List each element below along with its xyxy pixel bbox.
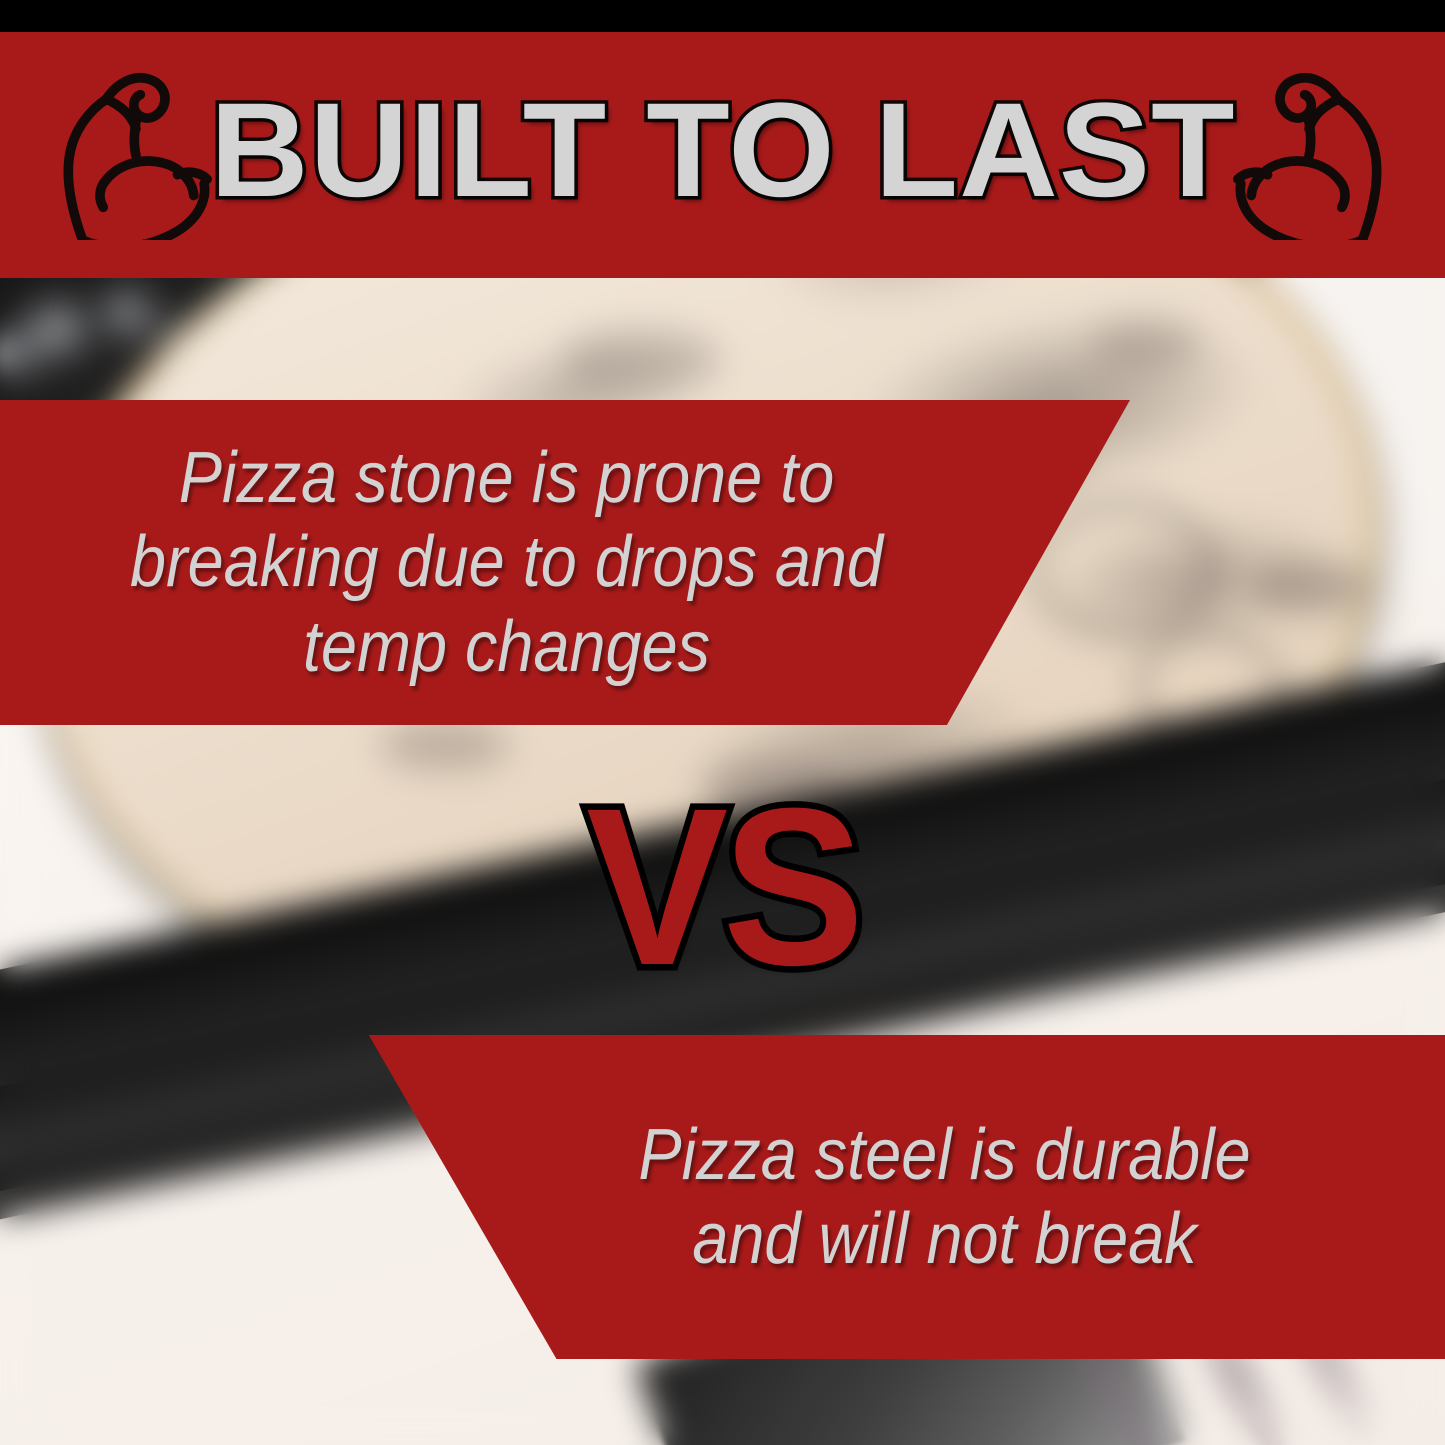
product-comparison-poster: BUILT TO LAST Pizza stone is prone to br… <box>0 0 1445 1445</box>
callout-pizza-stone-text: Pizza stone is prone to breaking due to … <box>57 436 1074 689</box>
flexed-bicep-icon <box>49 65 214 245</box>
top-letterbox-bar <box>0 0 1445 32</box>
callout-line: Pizza stone is prone to <box>179 438 835 518</box>
flexed-bicep-icon <box>1231 65 1396 245</box>
callout-line: breaking due to drops and <box>130 522 883 602</box>
page-title: BUILT TO LAST <box>210 84 1236 226</box>
callout-line: temp changes <box>303 607 710 687</box>
callout-line: Pizza steel is durable <box>638 1115 1250 1195</box>
callout-pizza-steel-text: Pizza steel is durable and will not brea… <box>357 1113 1388 1281</box>
header-banner: BUILT TO LAST <box>0 32 1445 278</box>
callout-pizza-stone: Pizza stone is prone to breaking due to … <box>0 400 1130 725</box>
callout-line: and will not break <box>692 1199 1196 1279</box>
